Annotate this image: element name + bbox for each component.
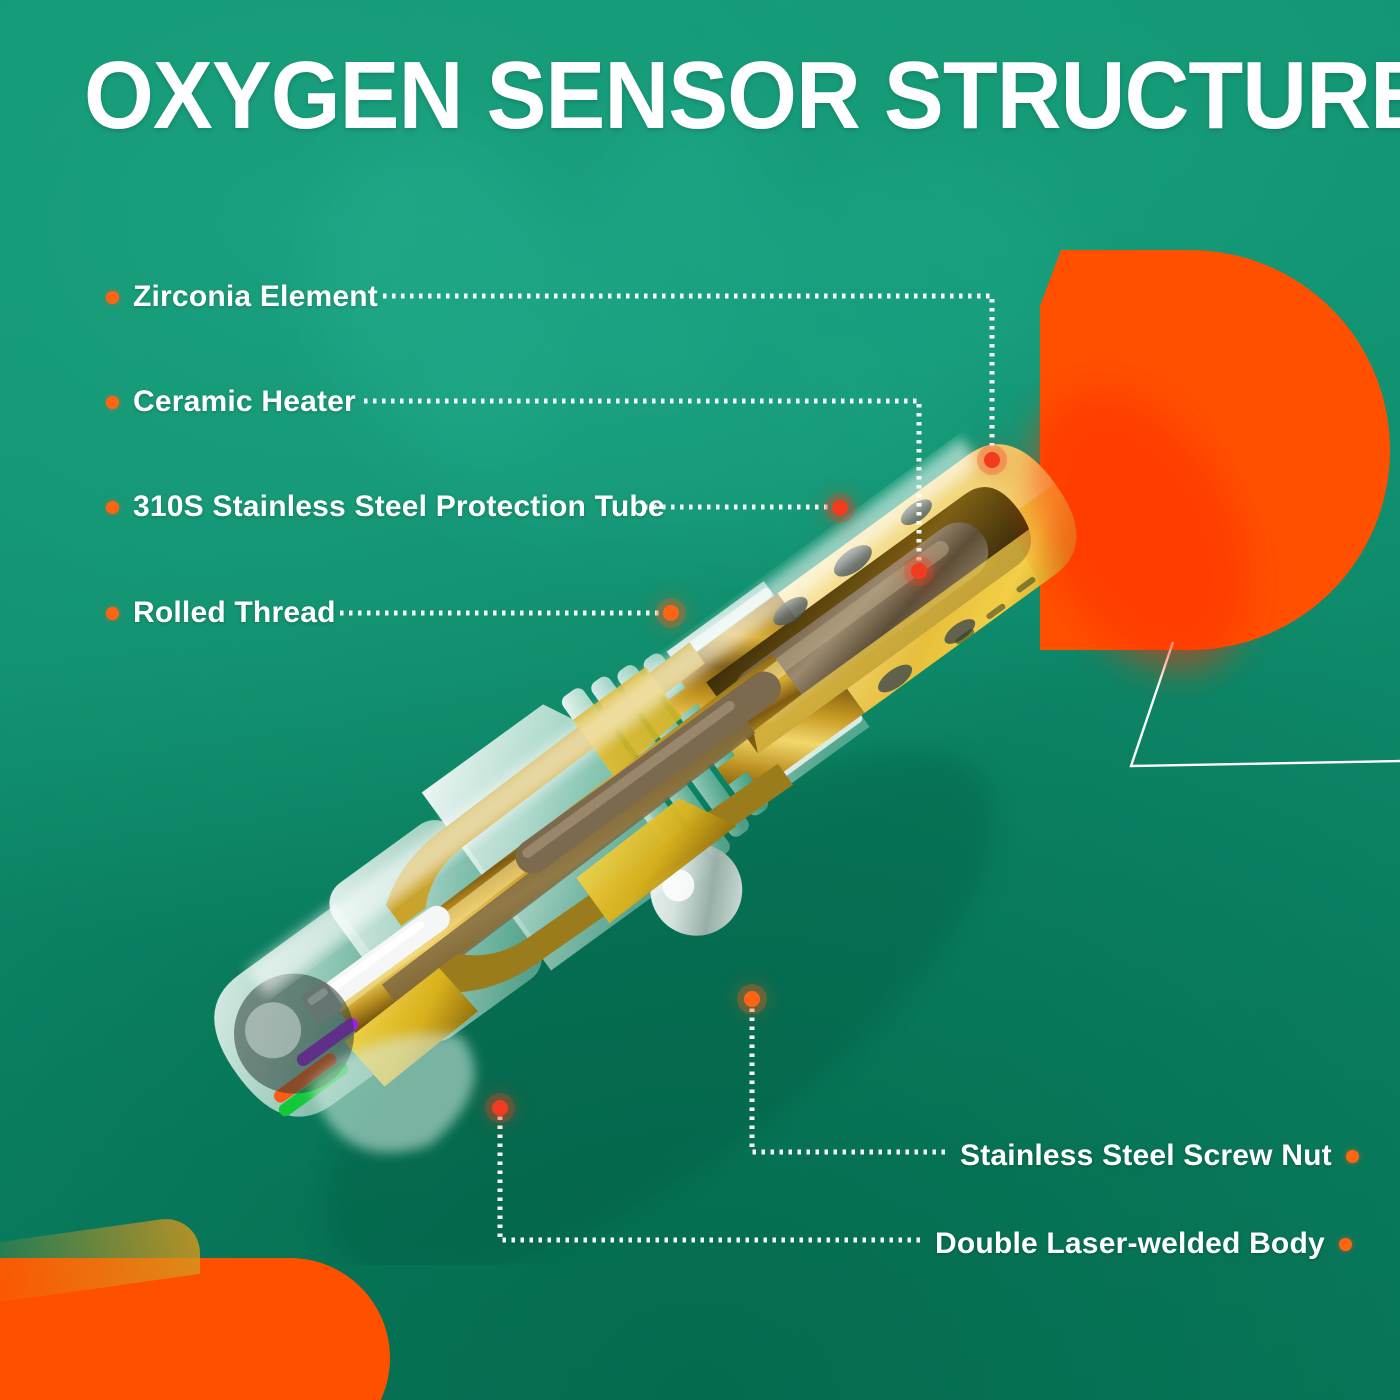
- bullet-dot-icon: [106, 501, 119, 514]
- bullet-dot-icon: [106, 396, 119, 409]
- screw-nut-hotspot[interactable]: [744, 991, 760, 1007]
- bullet-dot-icon: [1339, 1238, 1352, 1251]
- callout-screw-nut[interactable]: Stainless Steel Screw Nut: [960, 1139, 1359, 1173]
- callout-laser-welded-body[interactable]: Double Laser-welded Body: [935, 1227, 1352, 1261]
- laser-welded-body-hotspot[interactable]: [492, 1100, 508, 1116]
- zirconia-element-hotspot[interactable]: [984, 452, 1000, 468]
- callout-label: 310S Stainless Steel Protection Tube: [133, 490, 665, 524]
- bullet-dot-icon: [1346, 1150, 1359, 1163]
- callout-label: Stainless Steel Screw Nut: [960, 1139, 1332, 1173]
- bullet-dot-icon: [106, 607, 119, 620]
- callout-zirconia-element[interactable]: Zirconia Element: [106, 280, 378, 314]
- callout-rolled-thread[interactable]: Rolled Thread: [106, 596, 336, 630]
- callout-label: Zirconia Element: [133, 280, 378, 314]
- callout-ceramic-heater[interactable]: Ceramic Heater: [106, 385, 356, 419]
- heat-glow: [0, 0, 1400, 1400]
- callout-label: Double Laser-welded Body: [935, 1227, 1325, 1261]
- protection-tube-hotspot[interactable]: [832, 500, 848, 516]
- callout-protection-tube[interactable]: 310S Stainless Steel Protection Tube: [106, 490, 665, 524]
- page-title: OXYGEN SENSOR STRUCTURE: [84, 48, 1400, 144]
- ceramic-heater-hotspot[interactable]: [911, 563, 927, 579]
- rolled-thread-hotspot[interactable]: [663, 605, 679, 621]
- bullet-dot-icon: [106, 291, 119, 304]
- callout-label: Rolled Thread: [133, 596, 336, 630]
- infographic-canvas: OXYGEN SENSOR STRUCTURE Zirconia Element…: [0, 0, 1400, 1400]
- callout-label: Ceramic Heater: [133, 385, 356, 419]
